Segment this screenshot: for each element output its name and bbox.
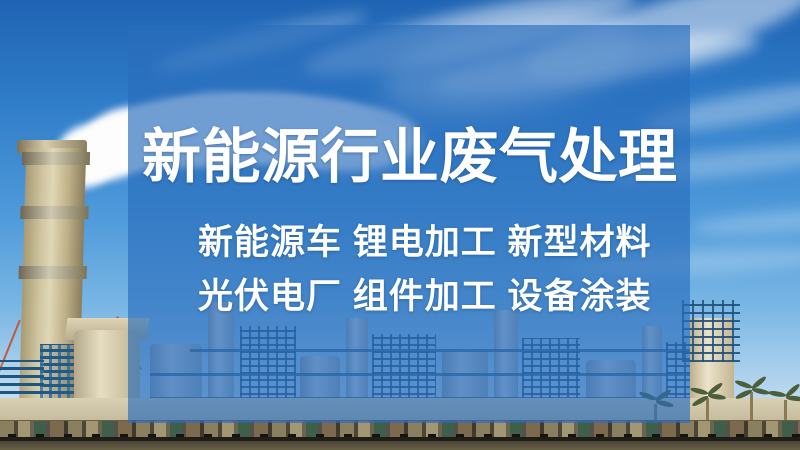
foreground-ground [0, 441, 800, 450]
banner-text-block: 新能源行业废气处理 新能源车 锂电加工 新型材料 光伏电厂 组件加工 设备涂装 [128, 25, 690, 423]
subtitle-line-1: 新能源车 锂电加工 新型材料 [198, 223, 651, 263]
stack-band [19, 266, 87, 279]
subtitle-line-2: 光伏电厂 组件加工 设备涂装 [198, 277, 651, 317]
stack-band [22, 152, 90, 165]
silo-steel-cage [682, 300, 740, 362]
stack-band [20, 206, 88, 219]
promo-banner: 新能源行业废气处理 新能源车 锂电加工 新型材料 光伏电厂 组件加工 设备涂装 [0, 0, 800, 450]
page-title: 新能源行业废气处理 [142, 126, 676, 188]
